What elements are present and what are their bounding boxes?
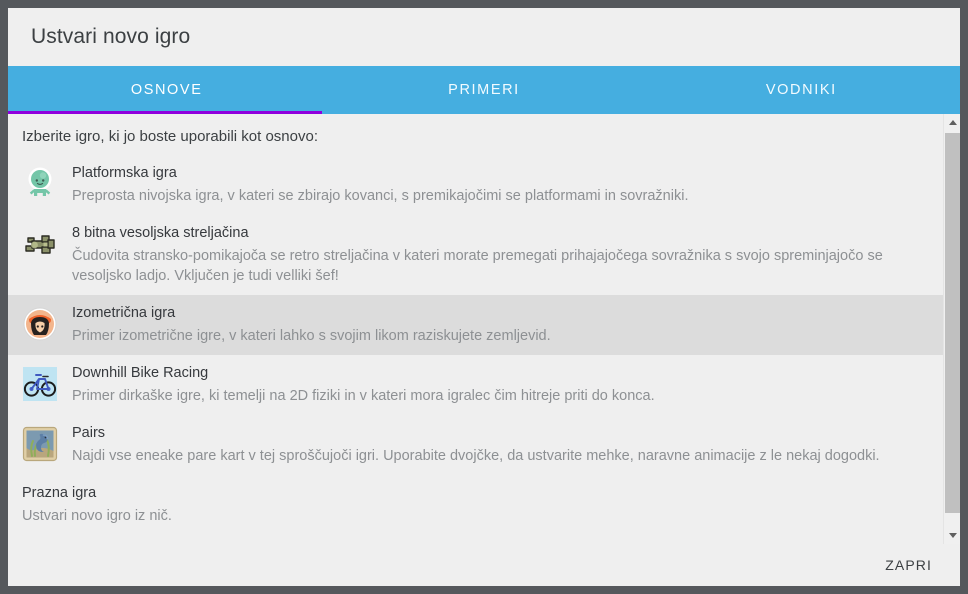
list-item-description: Najdi vse eneake pare kart v tej sprošču…: [72, 446, 929, 466]
spaceship-pixel-icon: [22, 226, 58, 262]
list-item-description: Čudovita stransko-pomikajoča se retro st…: [72, 246, 929, 286]
list-item[interactable]: Downhill Bike Racing Primer dirkaške igr…: [8, 355, 943, 415]
bicycle-icon: [22, 366, 58, 402]
list-item-text: Platformska igra Preprosta nivojska igra…: [72, 164, 929, 206]
character-portrait-icon: [22, 306, 58, 342]
page-title: Ustvari novo igro: [31, 25, 190, 49]
list-item-title: Izometrična igra: [72, 304, 929, 323]
list-item[interactable]: Pairs Najdi vse eneake pare kart v tej s…: [8, 415, 943, 475]
list-item[interactable]: 8 bitna vesoljska streljačina Čudovita s…: [8, 215, 943, 295]
create-new-game-dialog: Ustvari novo igro OSNOVE PRIMERI VODNIKI…: [8, 8, 960, 586]
list-item-title: Platformska igra: [72, 164, 929, 183]
list-item-text: Izometrična igra Primer izometrične igre…: [72, 304, 929, 346]
tab-vodniki[interactable]: VODNIKI: [643, 66, 960, 114]
vertical-scrollbar[interactable]: [943, 114, 960, 544]
list-item-title: Prazna igra: [22, 484, 929, 503]
scroll-up-arrow-icon[interactable]: [944, 114, 960, 131]
prompt-text: Izberite igro, ki jo boste uporabili kot…: [8, 114, 943, 155]
list-item-title: 8 bitna vesoljska streljačina: [72, 224, 929, 243]
list-item[interactable]: Izometrična igra Primer izometrične igre…: [8, 295, 943, 355]
list-item-description: Primer dirkaške igre, ki temelji na 2D f…: [72, 386, 929, 406]
app-window: Ustvari novo igro OSNOVE PRIMERI VODNIKI…: [0, 0, 968, 594]
tab-osnove[interactable]: OSNOVE: [8, 66, 325, 114]
tab-bar: OSNOVE PRIMERI VODNIKI: [8, 66, 960, 114]
list-item[interactable]: Prazna igra Ustvari novo igro iz nič.: [8, 475, 943, 535]
list-item-text: Prazna igra Ustvari novo igro iz nič.: [22, 484, 929, 526]
scrollbar-thumb[interactable]: [945, 133, 960, 513]
list-item-title: Pairs: [72, 424, 929, 443]
template-list: Platformska igra Preprosta nivojska igra…: [8, 155, 943, 535]
list-item-description: Primer izometrične igre, v kateri lahko …: [72, 326, 929, 346]
list-item-text: 8 bitna vesoljska streljačina Čudovita s…: [72, 224, 929, 286]
list-item-description: Ustvari novo igro iz nič.: [22, 506, 929, 526]
dialog-title-bar: Ustvari novo igro: [8, 8, 960, 66]
list-item-title: Downhill Bike Racing: [72, 364, 929, 383]
list-item-description: Preprosta nivojska igra, v kateri se zbi…: [72, 186, 929, 206]
list-item-text: Downhill Bike Racing Primer dirkaške igr…: [72, 364, 929, 406]
seahorse-card-icon: [22, 426, 58, 462]
dialog-body: Izberite igro, ki jo boste uporabili kot…: [8, 114, 960, 544]
tab-primeri[interactable]: PRIMERI: [325, 66, 642, 114]
alien-astronaut-icon: [22, 166, 58, 202]
list-item[interactable]: Platformska igra Preprosta nivojska igra…: [8, 155, 943, 215]
list-item-text: Pairs Najdi vse eneake pare kart v tej s…: [72, 424, 929, 466]
scroll-down-arrow-icon[interactable]: [944, 527, 960, 544]
dialog-footer: ZAPRI: [8, 544, 960, 586]
close-button[interactable]: ZAPRI: [879, 553, 938, 577]
template-list-panel: Izberite igro, ki jo boste uporabili kot…: [8, 114, 943, 544]
